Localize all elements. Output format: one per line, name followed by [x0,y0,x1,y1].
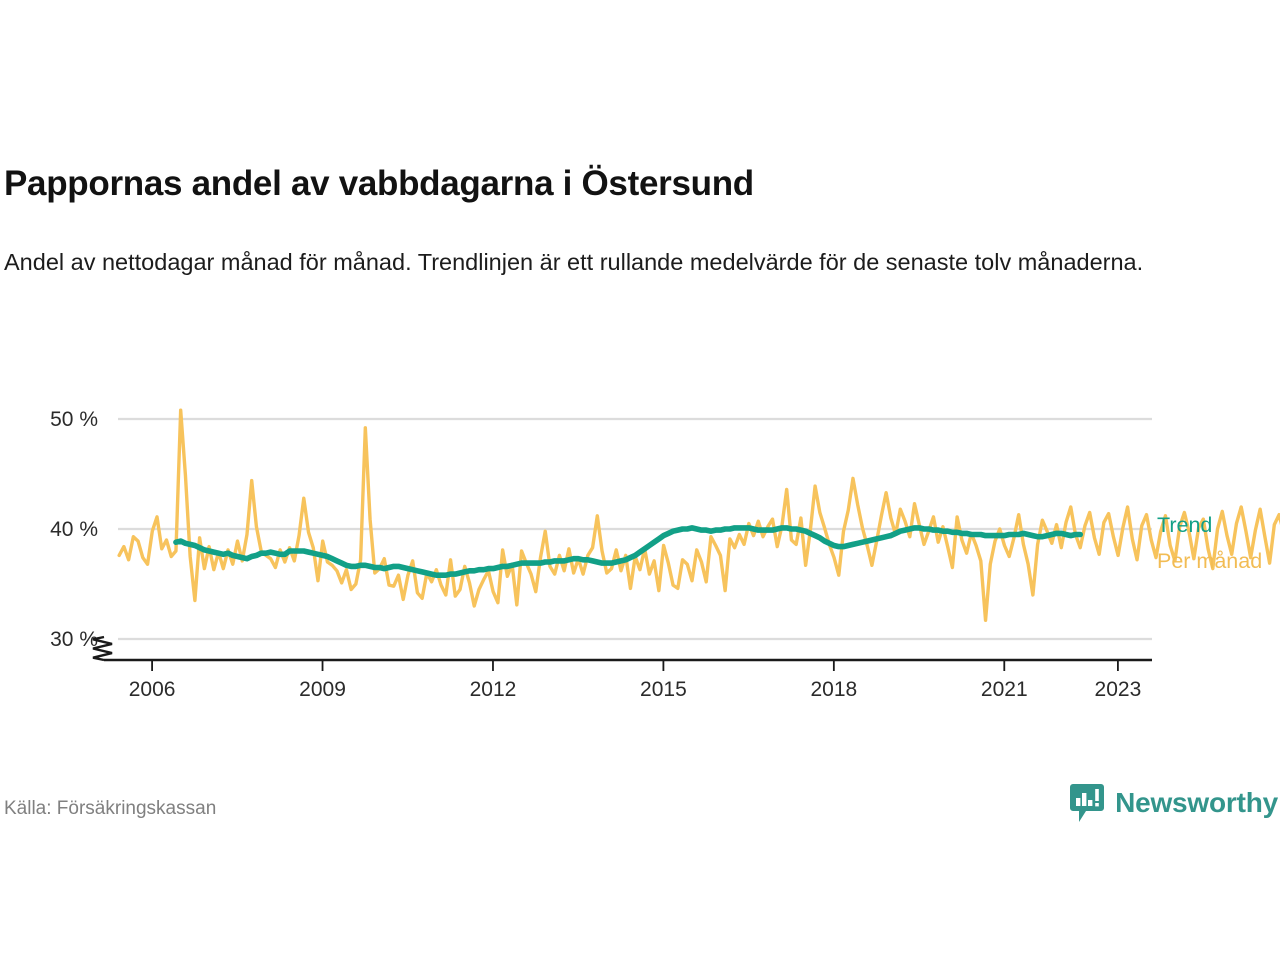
brand-name: Newsworthy [1115,787,1278,819]
y-tick-label: 50 % [50,408,98,431]
x-tick-label: 2021 [981,678,1028,701]
chart-page: Pappornas andel av vabbdagarna i Östersu… [0,0,1280,960]
chart-container: 30 %40 %50 % 200620092012201520182021202… [0,360,1280,720]
y-axis-ticks: 30 %40 %50 % [50,408,98,651]
y-tick-label: 30 % [50,628,98,651]
x-tick-label: 2015 [640,678,687,701]
bar-chart-speech-bubble-icon [1070,783,1104,823]
x-tick-label: 2023 [1095,678,1142,701]
line-chart: 30 %40 %50 % 200620092012201520182021202… [0,360,1280,720]
legend-label-trend: Trend [1157,513,1212,537]
gridlines [118,419,1152,639]
x-axis-ticks: 2006200920122015201820212023 [129,660,1142,701]
axis-break-zigzag [93,637,112,660]
x-tick-label: 2009 [299,678,346,701]
y-tick-label: 40 % [50,518,98,541]
x-tick-label: 2012 [470,678,517,701]
series-line-per-manad [119,410,1280,620]
page-subtitle: Andel av nettodagar månad för månad. Tre… [4,246,1254,279]
legend-label-per-manad: Per månad [1157,549,1262,573]
y-axis-break-icon [93,637,112,660]
x-tick-label: 2006 [129,678,176,701]
page-title: Pappornas andel av vabbdagarna i Östersu… [4,163,754,205]
brand-logo: Newsworthy [1070,783,1278,823]
x-tick-label: 2018 [810,678,857,701]
source-note: Källa: Försäkringskassan [4,798,216,820]
